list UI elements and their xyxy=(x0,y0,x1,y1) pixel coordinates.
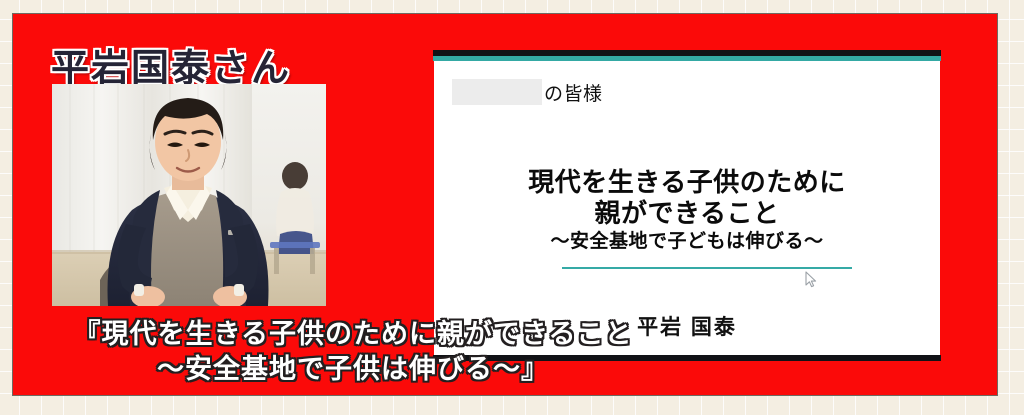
slide-subtitle: 〜安全基地で子どもは伸びる〜 xyxy=(434,228,940,257)
redaction-box xyxy=(452,79,542,105)
slide-audience-label: の皆様 xyxy=(544,79,603,106)
slide-title-underline xyxy=(562,267,852,269)
slide-presenter-name: 平岩 国泰 xyxy=(434,311,940,341)
slide-title-line1: 現代を生きる子供のために xyxy=(434,167,940,198)
slide-title-line2: 親ができること xyxy=(434,198,940,229)
speaker-photo xyxy=(52,84,326,306)
presentation-slide[interactable]: の皆様 現代を生きる子供のために 親ができること 〜安全基地で子どもは伸びる〜 … xyxy=(423,37,948,374)
slide-title: 現代を生きる子供のために 親ができること 〜安全基地で子どもは伸びる〜 xyxy=(434,167,940,257)
slide-bottom-black-bar xyxy=(433,355,941,361)
red-highlight-panel: 平岩国泰さん xyxy=(12,13,998,396)
mouse-pointer-icon xyxy=(805,271,817,289)
slide-canvas: の皆様 現代を生きる子供のために 親ができること 〜安全基地で子どもは伸びる〜 … xyxy=(434,61,940,355)
